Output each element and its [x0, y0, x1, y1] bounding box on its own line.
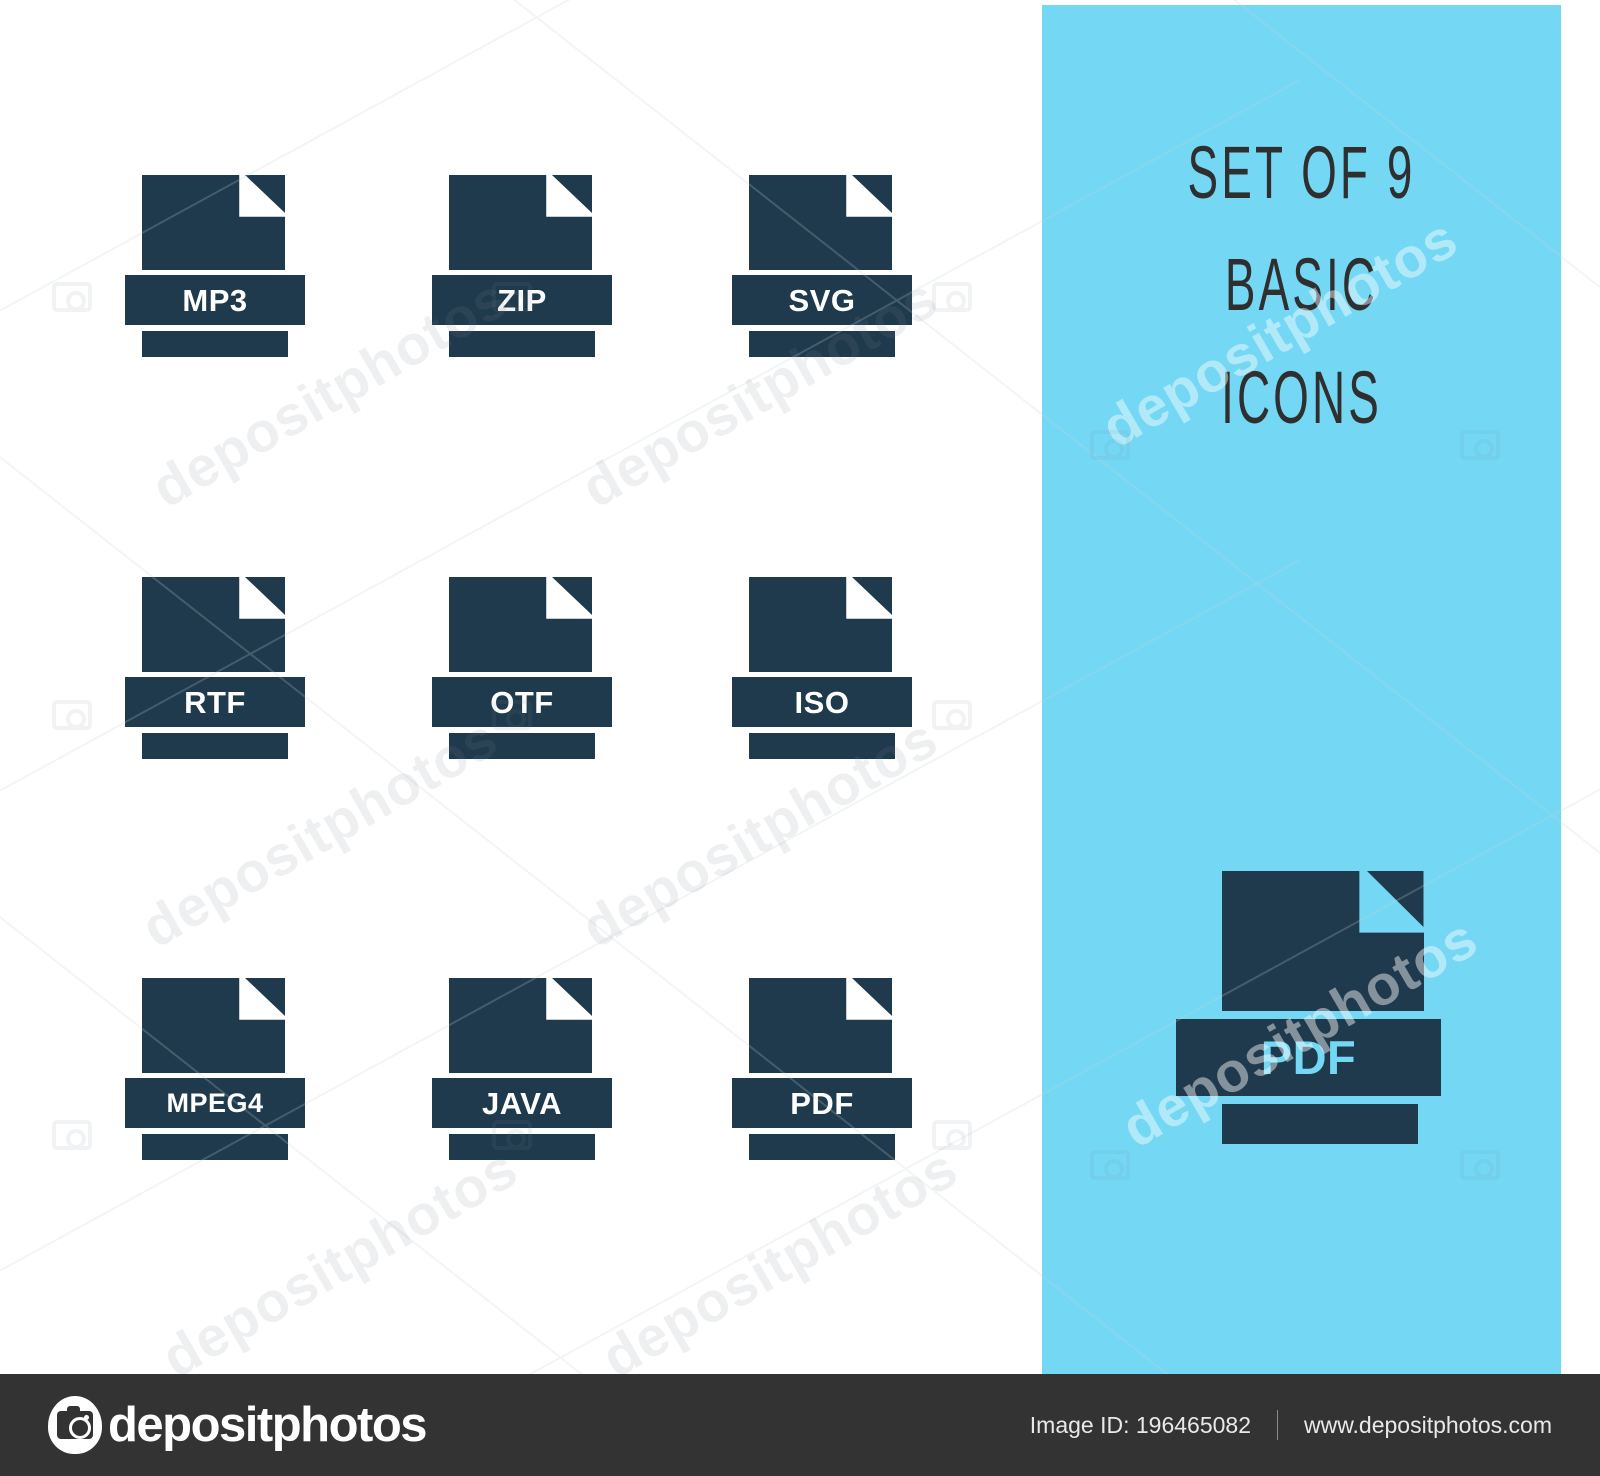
document-sheet: [142, 577, 285, 672]
extension-label: ISO: [795, 687, 850, 718]
otf-file-icon: OTF: [432, 577, 612, 763]
extension-band: JAVA: [432, 1078, 612, 1128]
folded-corner-icon: [552, 978, 592, 1016]
screenshot-canvas: MP3ZIPSVGRTFOTFISOMPEG4JAVAPDF SET OF 9 …: [0, 0, 1600, 1476]
bottom-bar: [449, 1134, 595, 1160]
document-sheet: [449, 175, 592, 270]
extension-label: PDF: [1261, 1034, 1357, 1081]
extension-label: PDF: [790, 1088, 854, 1119]
icon-grid: MP3ZIPSVGRTFOTFISOMPEG4JAVAPDF: [0, 0, 1042, 1374]
footer-wordmark: depositphotos: [108, 1401, 426, 1450]
extension-label: RTF: [184, 687, 246, 718]
depositphotos-logo[interactable]: depositphotos: [48, 1396, 426, 1454]
folded-corner-icon: [245, 175, 285, 213]
bottom-bar: [142, 331, 288, 357]
image-id-label: Image ID: 196465082: [1030, 1412, 1251, 1439]
document-sheet: [749, 577, 892, 672]
bottom-bar: [449, 331, 595, 357]
accent-panel: SET OF 9 BASIC ICONS PDF: [1042, 5, 1561, 1374]
bottom-bar: [749, 331, 895, 357]
document-sheet: [142, 978, 285, 1073]
website-link[interactable]: www.depositphotos.com: [1304, 1412, 1552, 1439]
extension-band: SVG: [732, 275, 912, 325]
bottom-bar: [1222, 1104, 1418, 1144]
camera-lens: [69, 1417, 91, 1439]
panel-title: SET OF 9 BASIC ICONS: [1141, 117, 1463, 454]
document-sheet: [749, 175, 892, 270]
extension-band: ISO: [732, 677, 912, 727]
folded-corner-icon: [852, 175, 892, 213]
document-sheet: [1222, 871, 1424, 1011]
java-file-icon: JAVA: [432, 978, 612, 1164]
extension-label: OTF: [490, 687, 554, 718]
bottom-bar: [749, 733, 895, 759]
footer-bar: depositphotos Image ID: 196465082 www.de…: [0, 1374, 1600, 1476]
folded-corner-icon: [852, 978, 892, 1016]
document-sheet: [449, 577, 592, 672]
camera-icon: [48, 1396, 102, 1454]
folded-corner-icon: [1367, 871, 1424, 927]
extension-label: ZIP: [497, 285, 547, 316]
extension-band: RTF: [125, 677, 305, 727]
folded-corner-icon: [552, 577, 592, 615]
iso-file-icon: ISO: [732, 577, 912, 763]
extension-label: MP3: [182, 285, 247, 316]
pdf-file-icon: PDF: [732, 978, 912, 1164]
camera-body: [57, 1411, 93, 1439]
footer-divider: [1277, 1410, 1278, 1440]
rtf-file-icon: RTF: [125, 577, 305, 763]
extension-label: JAVA: [482, 1088, 562, 1119]
document-sheet: [142, 175, 285, 270]
extension-band: ZIP: [432, 275, 612, 325]
folded-corner-icon: [852, 577, 892, 615]
folded-corner-icon: [552, 175, 592, 213]
bottom-bar: [142, 733, 288, 759]
mp3-file-icon: MP3: [125, 175, 305, 361]
extension-band: MP3: [125, 275, 305, 325]
zip-file-icon: ZIP: [432, 175, 612, 361]
camera-flash-dot: [84, 1415, 89, 1420]
document-sheet: [749, 978, 892, 1073]
extension-band: PDF: [1176, 1019, 1441, 1096]
mpeg4-file-icon: MPEG4: [125, 978, 305, 1164]
extension-label: MPEG4: [166, 1090, 263, 1117]
bottom-bar: [449, 733, 595, 759]
bottom-bar: [142, 1134, 288, 1160]
extension-band: MPEG4: [125, 1078, 305, 1128]
featured-pdf-file-icon: PDF: [1176, 871, 1441, 1156]
extension-label: SVG: [789, 285, 856, 316]
extension-band: OTF: [432, 677, 612, 727]
svg-file-icon: SVG: [732, 175, 912, 361]
folded-corner-icon: [245, 978, 285, 1016]
extension-band: PDF: [732, 1078, 912, 1128]
document-sheet: [449, 978, 592, 1073]
folded-corner-icon: [245, 577, 285, 615]
footer-meta: Image ID: 196465082 www.depositphotos.co…: [1030, 1410, 1552, 1440]
bottom-bar: [749, 1134, 895, 1160]
